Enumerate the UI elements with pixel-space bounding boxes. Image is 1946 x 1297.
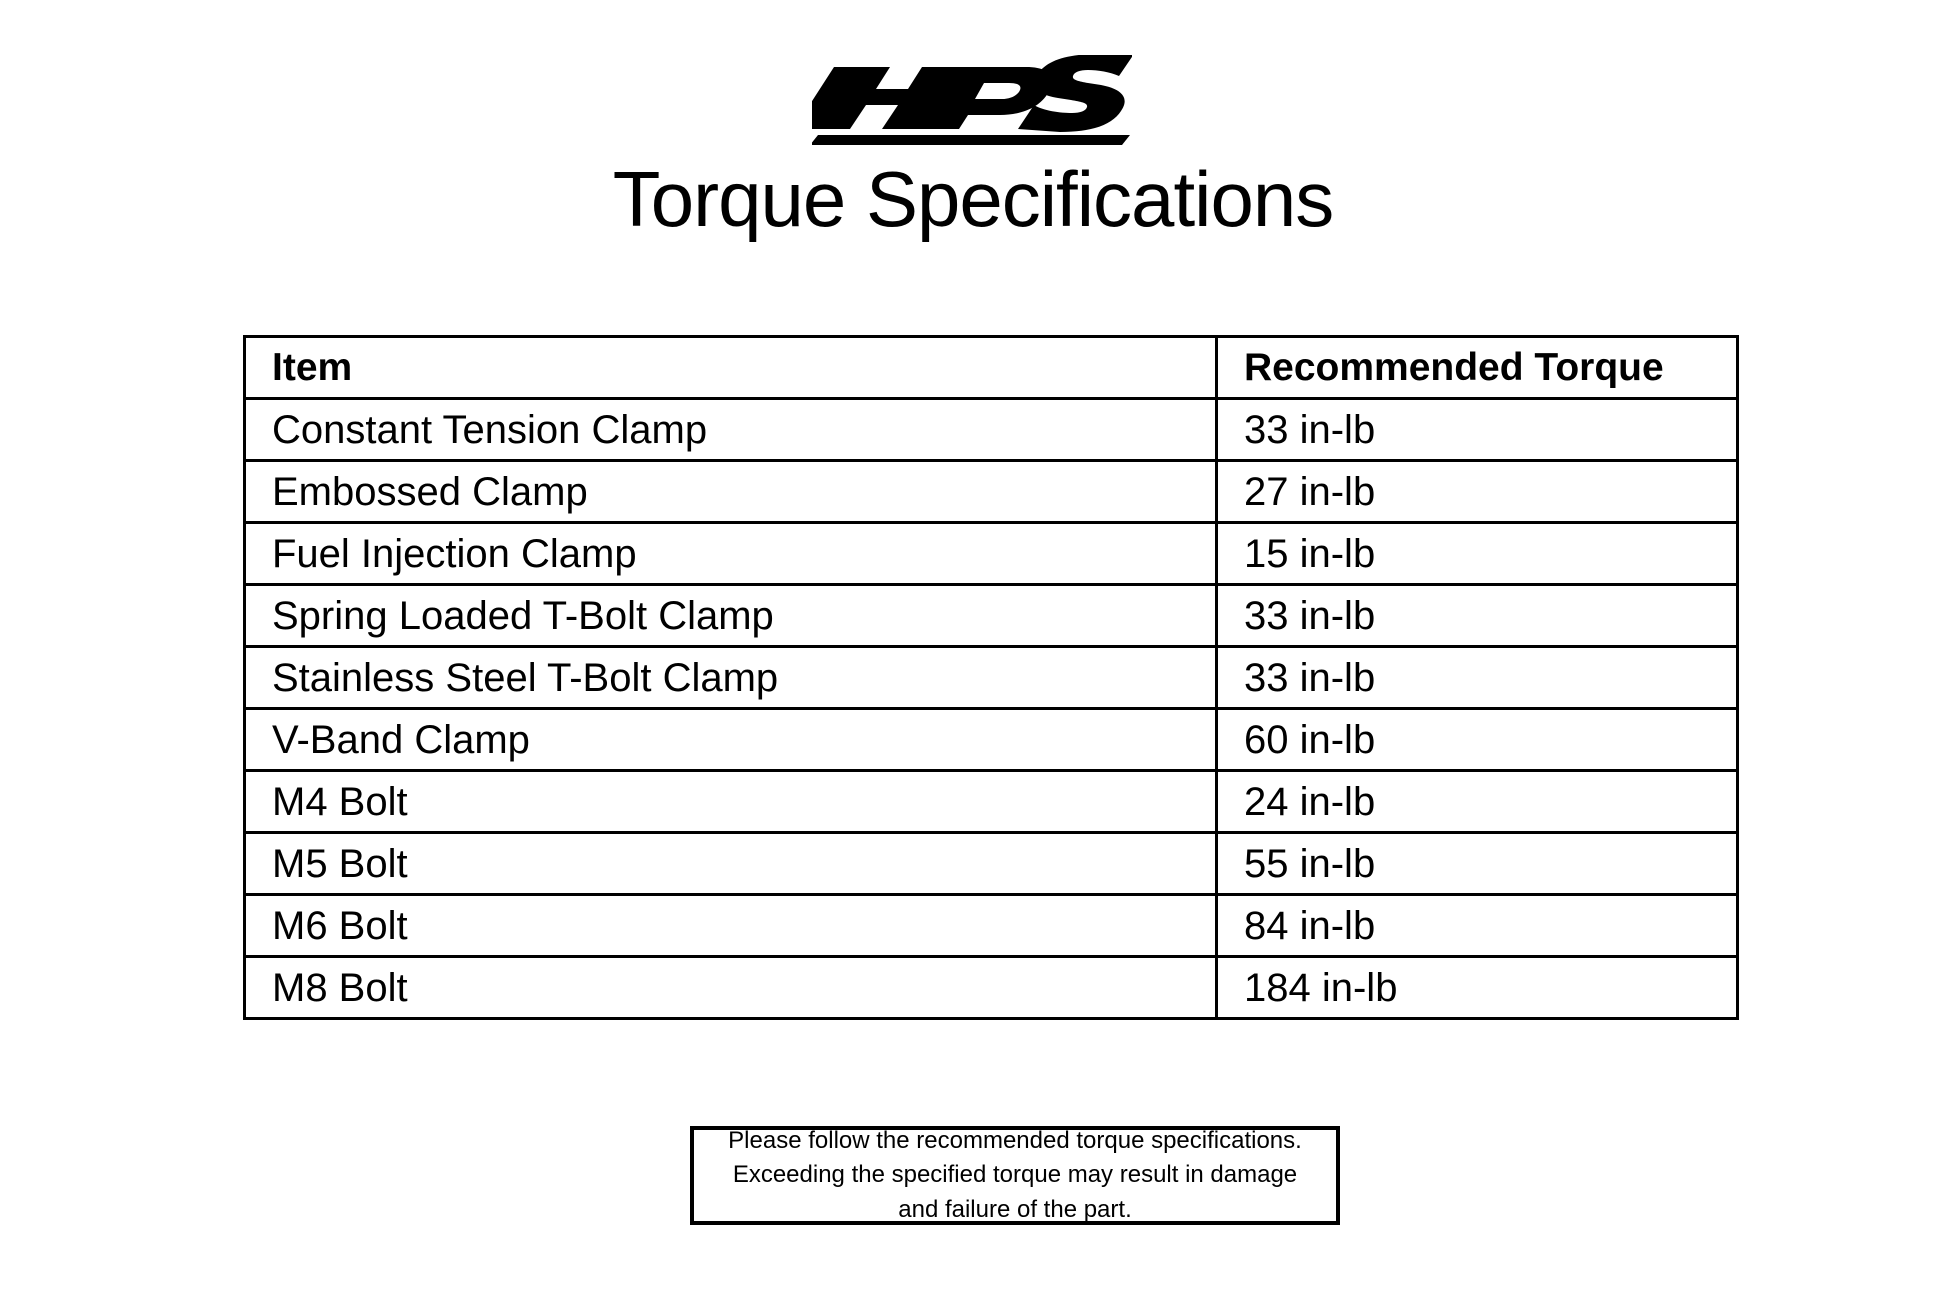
cell-torque: 55 in-lb [1217, 833, 1738, 895]
cell-torque: 24 in-lb [1217, 771, 1738, 833]
column-header-torque: Recommended Torque [1217, 337, 1738, 399]
table-header-row: Item Recommended Torque [245, 337, 1738, 399]
table-header: Item Recommended Torque [245, 337, 1738, 399]
cell-item: Stainless Steel T-Bolt Clamp [245, 647, 1217, 709]
table-row: M6 Bolt84 in-lb [245, 895, 1738, 957]
note-line-2: Exceeding the specified torque may resul… [728, 1158, 1302, 1192]
torque-spec-table-container: Item Recommended Torque Constant Tension… [243, 335, 1736, 1020]
cell-torque: 84 in-lb [1217, 895, 1738, 957]
column-header-item: Item [245, 337, 1217, 399]
table-row: Spring Loaded T-Bolt Clamp33 in-lb [245, 585, 1738, 647]
cell-torque: 15 in-lb [1217, 523, 1738, 585]
cell-item: Embossed Clamp [245, 461, 1217, 523]
table-row: M4 Bolt24 in-lb [245, 771, 1738, 833]
table-row: M8 Bolt184 in-lb [245, 957, 1738, 1019]
cell-torque: 184 in-lb [1217, 957, 1738, 1019]
table-row: Embossed Clamp27 in-lb [245, 461, 1738, 523]
cell-torque: 33 in-lb [1217, 647, 1738, 709]
note-line-3: and failure of the part. [728, 1193, 1302, 1227]
warning-note-text: Please follow the recommended torque spe… [714, 1124, 1316, 1226]
cell-item: M8 Bolt [245, 957, 1217, 1019]
table-row: M5 Bolt55 in-lb [245, 833, 1738, 895]
cell-torque: 33 in-lb [1217, 585, 1738, 647]
page-title: Torque Specifications [0, 160, 1946, 238]
torque-spec-table: Item Recommended Torque Constant Tension… [243, 335, 1739, 1020]
cell-torque: 60 in-lb [1217, 709, 1738, 771]
cell-item: Constant Tension Clamp [245, 399, 1217, 461]
cell-item: Spring Loaded T-Bolt Clamp [245, 585, 1217, 647]
hps-logo [812, 55, 1132, 145]
cell-item: M5 Bolt [245, 833, 1217, 895]
note-line-1: Please follow the recommended torque spe… [728, 1124, 1302, 1158]
cell-torque: 33 in-lb [1217, 399, 1738, 461]
warning-note-box: Please follow the recommended torque spe… [690, 1126, 1340, 1225]
cell-torque: 27 in-lb [1217, 461, 1738, 523]
hps-logo-icon [812, 55, 1132, 145]
table-row: V-Band Clamp60 in-lb [245, 709, 1738, 771]
cell-item: Fuel Injection Clamp [245, 523, 1217, 585]
cell-item: V-Band Clamp [245, 709, 1217, 771]
table-row: Fuel Injection Clamp15 in-lb [245, 523, 1738, 585]
cell-item: M4 Bolt [245, 771, 1217, 833]
table-body: Constant Tension Clamp33 in-lbEmbossed C… [245, 399, 1738, 1019]
cell-item: M6 Bolt [245, 895, 1217, 957]
table-row: Stainless Steel T-Bolt Clamp33 in-lb [245, 647, 1738, 709]
table-row: Constant Tension Clamp33 in-lb [245, 399, 1738, 461]
